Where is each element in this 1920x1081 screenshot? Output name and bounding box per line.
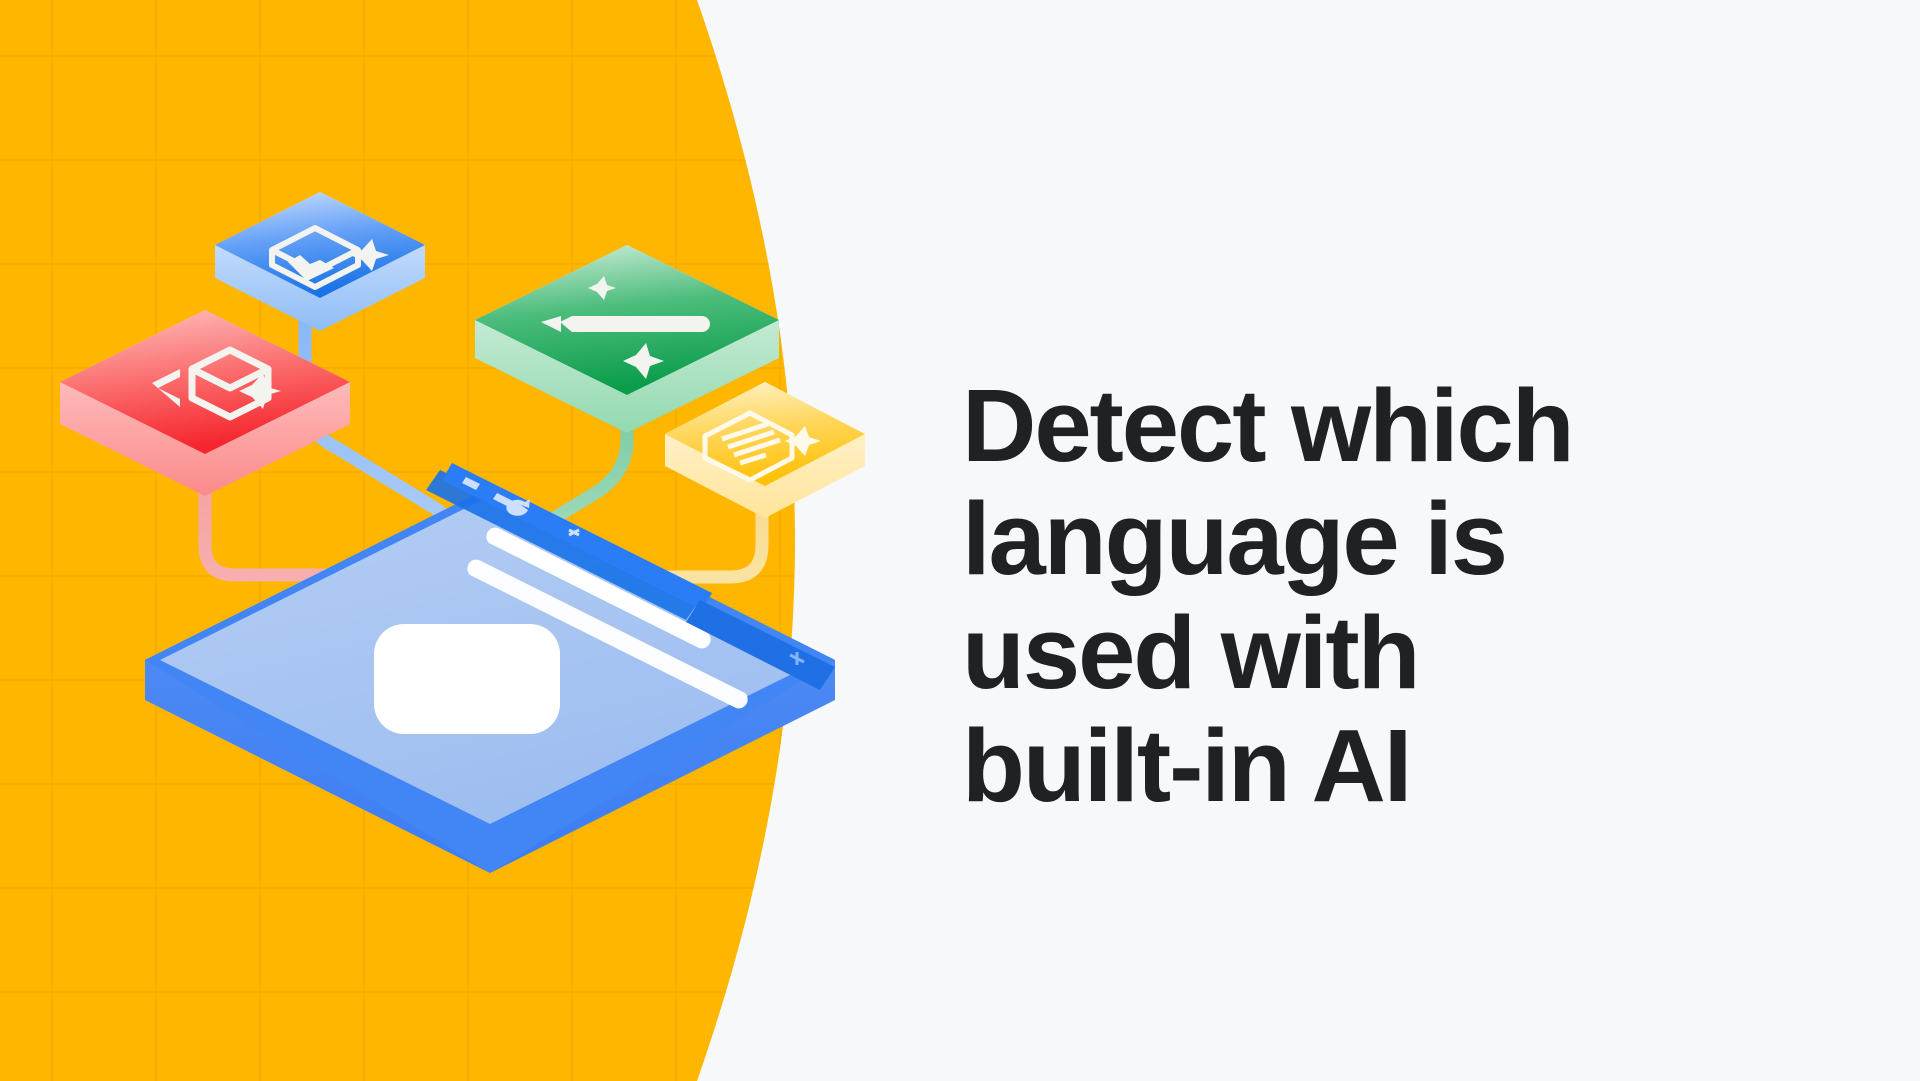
panel-fill: [0, 0, 800, 1081]
orange-background-panel: [0, 0, 800, 1081]
hero-slide: Detect which language is used with built…: [0, 0, 1920, 1081]
page-title: Detect which language is used with built…: [962, 369, 1792, 822]
